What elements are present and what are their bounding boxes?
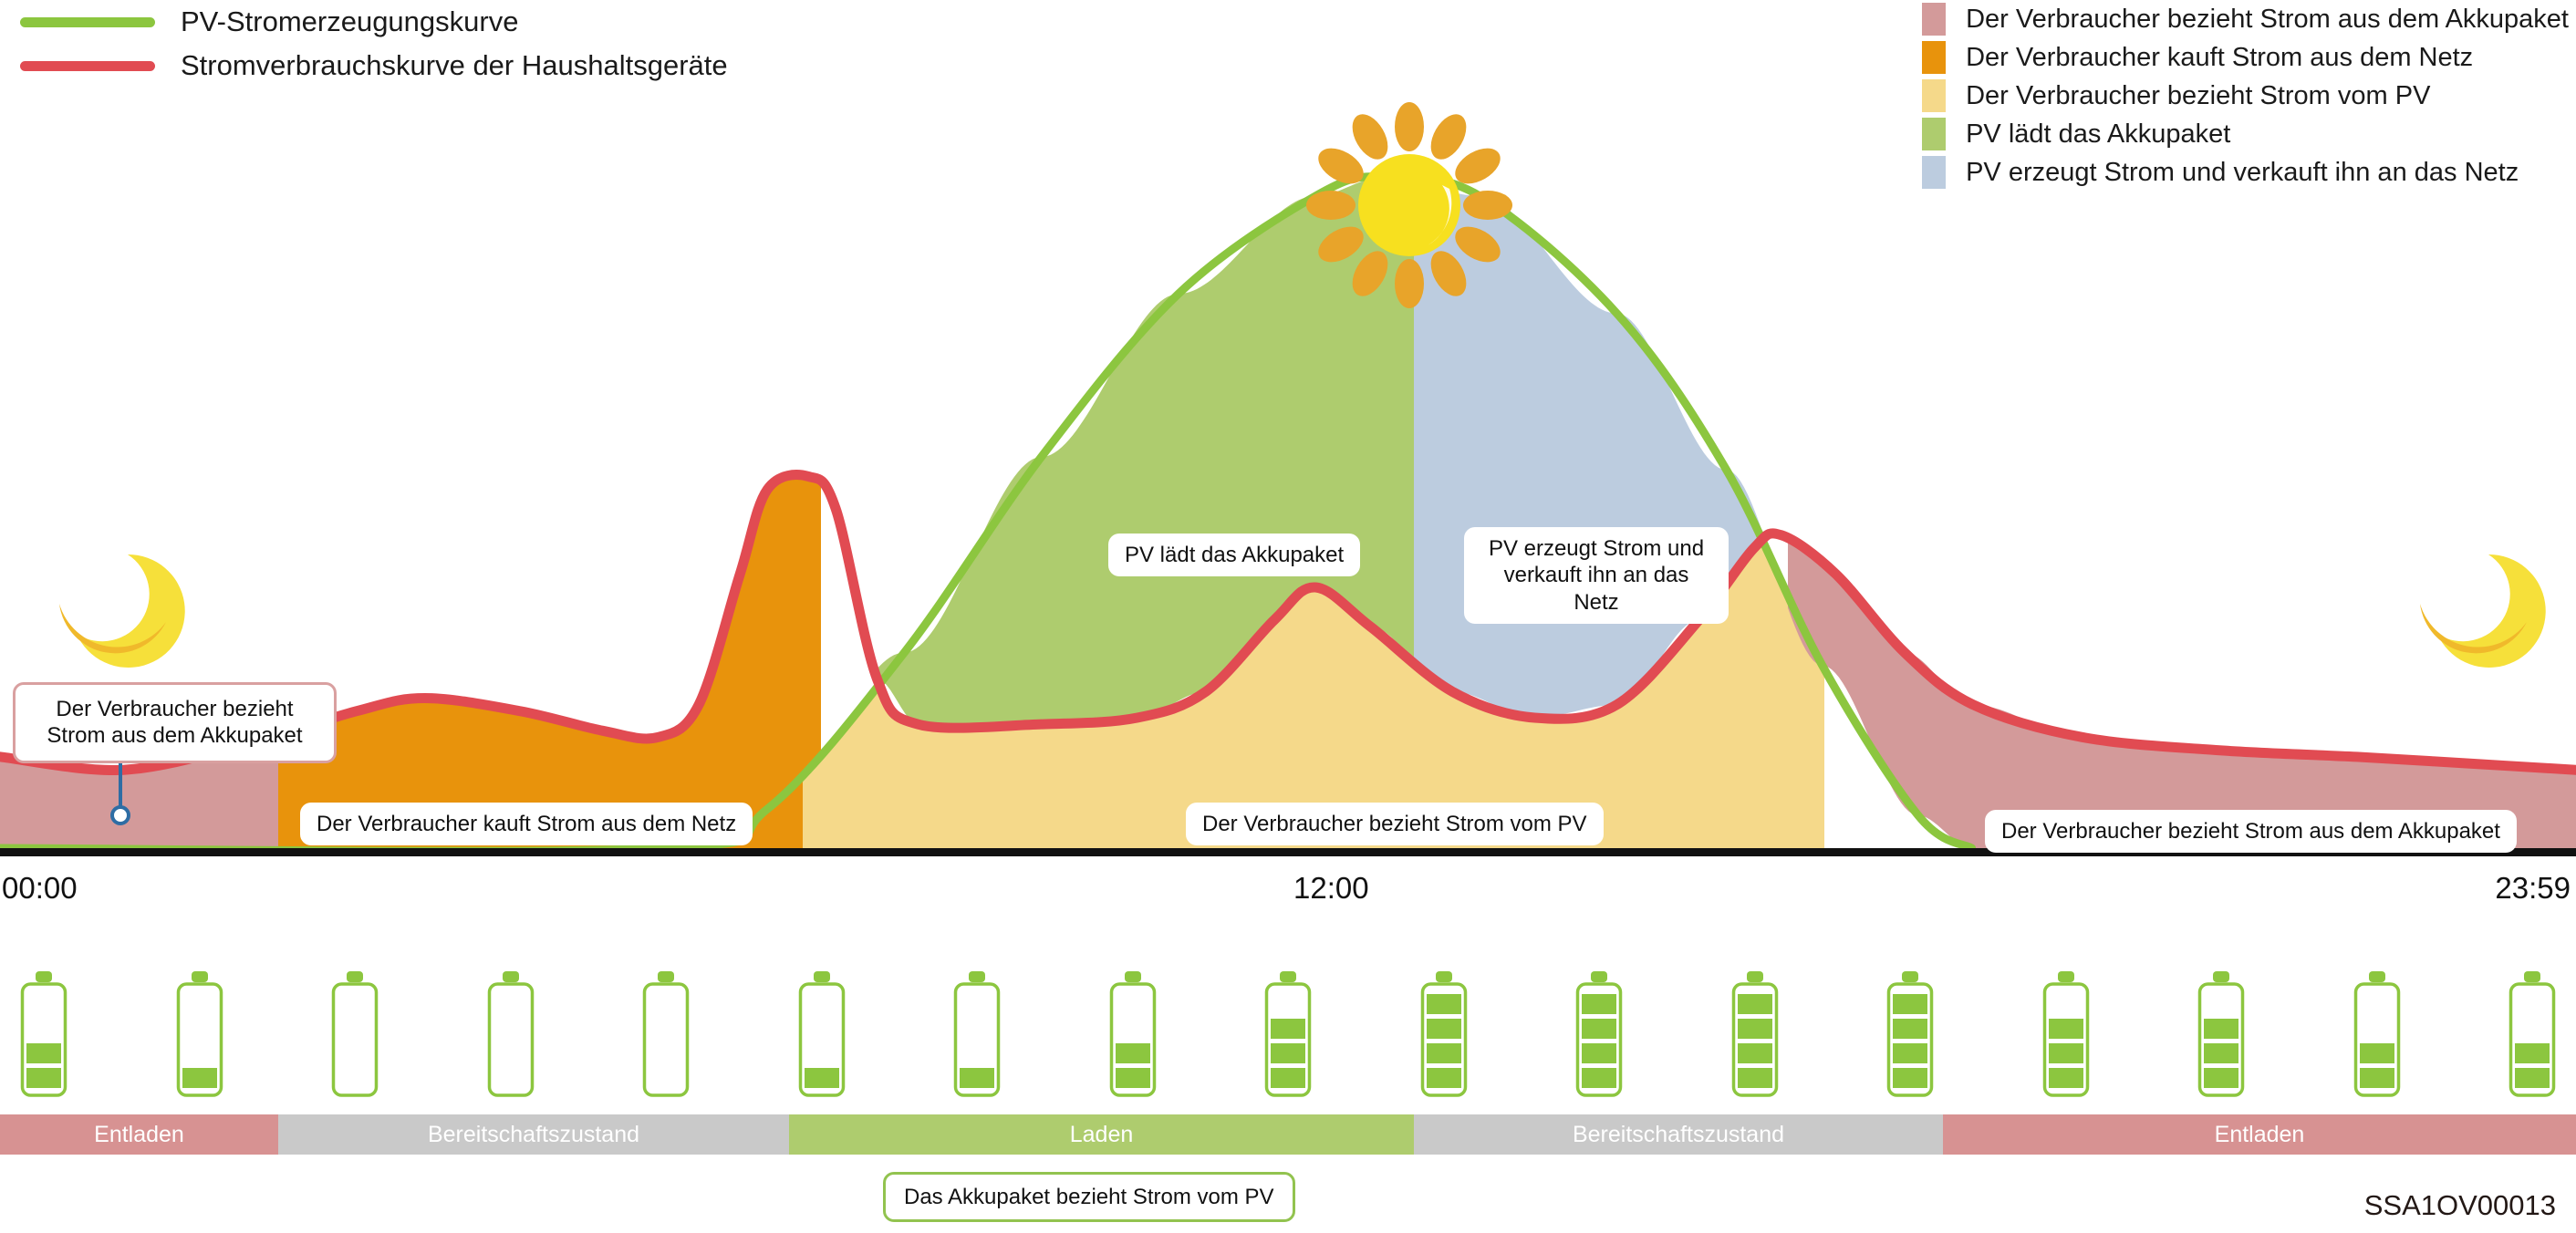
status-segment-label: Bereitschaftszustand — [428, 1122, 639, 1148]
callout-battery-draw-right: Der Verbraucher bezieht Strom aus dem Ak… — [1985, 810, 2517, 853]
callout-battery-draw-left: Der Verbraucher bezieht Strom aus dem Ak… — [13, 682, 337, 763]
battery-icon — [2197, 969, 2245, 1097]
energy-flow-chart — [0, 0, 2576, 876]
callout-text-consumer-from-pv: Der Verbraucher bezieht Strom vom PV — [1202, 812, 1587, 836]
axis-label-middle: 12:00 — [1293, 871, 1369, 906]
battery-draw-right-fill — [1788, 0, 2576, 848]
status-segment-label: Laden — [1070, 1122, 1134, 1148]
callout-text-battery-draw-right: Der Verbraucher bezieht Strom aus dem Ak… — [2001, 819, 2500, 844]
callout-text-battery-draw-left: Der Verbraucher bezieht Strom aus dem Ak… — [47, 697, 302, 748]
battery-icon — [798, 969, 846, 1097]
battery-icon — [2042, 969, 2090, 1097]
status-segment-entladen: Entladen — [0, 1114, 278, 1155]
status-segment-laden: Laden — [789, 1114, 1414, 1155]
battery-status-bar: EntladenBereitschaftszustandLadenBereits… — [0, 1114, 2576, 1155]
battery-icon — [20, 969, 68, 1097]
callout-battery-from-pv: Das Akkupaket bezieht Strom vom PV — [883, 1172, 1295, 1222]
callout-text-battery-from-pv: Das Akkupaket bezieht Strom vom PV — [904, 1185, 1274, 1209]
callout-pv-sells-grid: PV erzeugt Strom und verkauft ihn an das… — [1464, 527, 1729, 624]
battery-icon — [953, 969, 1001, 1097]
axis-label-end: 23:59 — [2495, 871, 2571, 906]
battery-icon — [2508, 969, 2556, 1097]
battery-icon — [487, 969, 535, 1097]
callout-text-grid-purchase: Der Verbraucher kauft Strom aus dem Netz — [317, 812, 736, 836]
battery-icon — [642, 969, 690, 1097]
callout-text-pv-sells-grid: PV erzeugt Strom und verkauft ihn an das… — [1489, 536, 1704, 615]
battery-icon — [1575, 969, 1623, 1097]
callout-text-pv-charges-battery: PV lädt das Akkupaket — [1125, 543, 1344, 567]
battery-icon — [176, 969, 223, 1097]
callout-pv-charges-battery: PV lädt das Akkupaket — [1108, 534, 1360, 576]
moon-icon-right — [2420, 553, 2546, 668]
status-segment-bereitschaftszustand: Bereitschaftszustand — [278, 1114, 789, 1155]
battery-icon — [331, 969, 379, 1097]
status-segment-label: Entladen — [2215, 1122, 2305, 1148]
status-segment-entladen: Entladen — [1943, 1114, 2576, 1155]
callout-consumer-from-pv: Der Verbraucher bezieht Strom vom PV — [1186, 803, 1604, 845]
region-battery-draw-right — [1788, 0, 2576, 848]
status-segment-bereitschaftszustand: Bereitschaftszustand — [1414, 1114, 1943, 1155]
status-segment-label: Bereitschaftszustand — [1573, 1122, 1784, 1148]
battery-icon — [1886, 969, 1934, 1097]
callout-grid-purchase: Der Verbraucher kauft Strom aus dem Netz — [300, 803, 753, 845]
status-segment-label: Entladen — [94, 1122, 184, 1148]
axis-label-start: 00:00 — [2, 871, 78, 906]
battery-icon — [1264, 969, 1312, 1097]
battery-icon — [2353, 969, 2401, 1097]
moon-icon-left — [59, 553, 185, 668]
battery-icon — [1109, 969, 1157, 1097]
product-code: SSA1OV00013 — [2364, 1189, 2556, 1222]
battery-icon — [1731, 969, 1779, 1097]
battery-icon — [1420, 969, 1468, 1097]
battery-level-row — [0, 969, 2576, 1106]
